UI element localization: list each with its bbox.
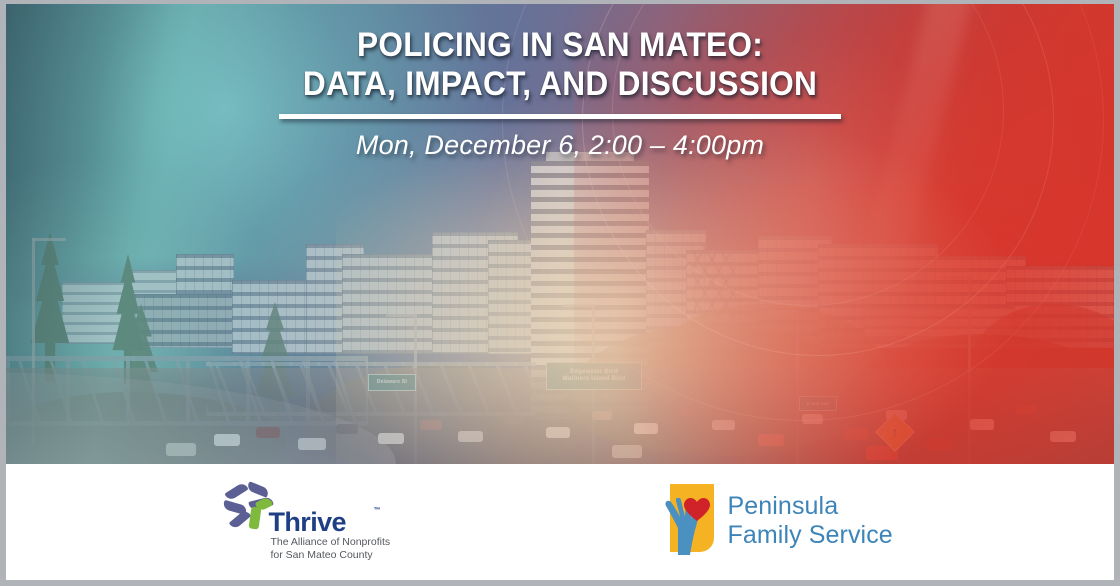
pfs-wordmark: Peninsula Family Service: [728, 492, 893, 550]
pinwheel-blade: [224, 482, 248, 502]
logo-footer: Thrive ™ The Alliance of Nonprofits for …: [6, 464, 1114, 578]
thrive-tagline-line1: The Alliance of Nonprofits: [271, 536, 391, 549]
hero-banner-image: Edgewater Blvd Mariners Island Blvd Dela…: [6, 4, 1114, 464]
trademark-icon: ™: [374, 507, 381, 514]
event-flyer: Edgewater Blvd Mariners Island Blvd Dela…: [0, 0, 1120, 586]
heart-icon: [684, 498, 710, 522]
thrive-tagline: The Alliance of Nonprofits for San Mateo…: [271, 536, 391, 563]
pinwheel-blade-green: [248, 506, 261, 529]
thrive-logo[interactable]: Thrive ™ The Alliance of Nonprofits for …: [223, 481, 408, 561]
warm-center-overlay: [6, 4, 1114, 464]
thrive-wordmark: Thrive: [269, 507, 346, 538]
pfs-wordmark-line2: Family Service: [728, 521, 893, 550]
pinwheel-blade: [246, 481, 270, 498]
pfs-wordmark-line1: Peninsula: [728, 492, 893, 521]
thrive-tagline-line2: for San Mateo County: [271, 549, 391, 562]
pfs-mark-icon: [658, 484, 716, 558]
peninsula-family-service-logo[interactable]: Peninsula Family Service: [658, 483, 898, 559]
